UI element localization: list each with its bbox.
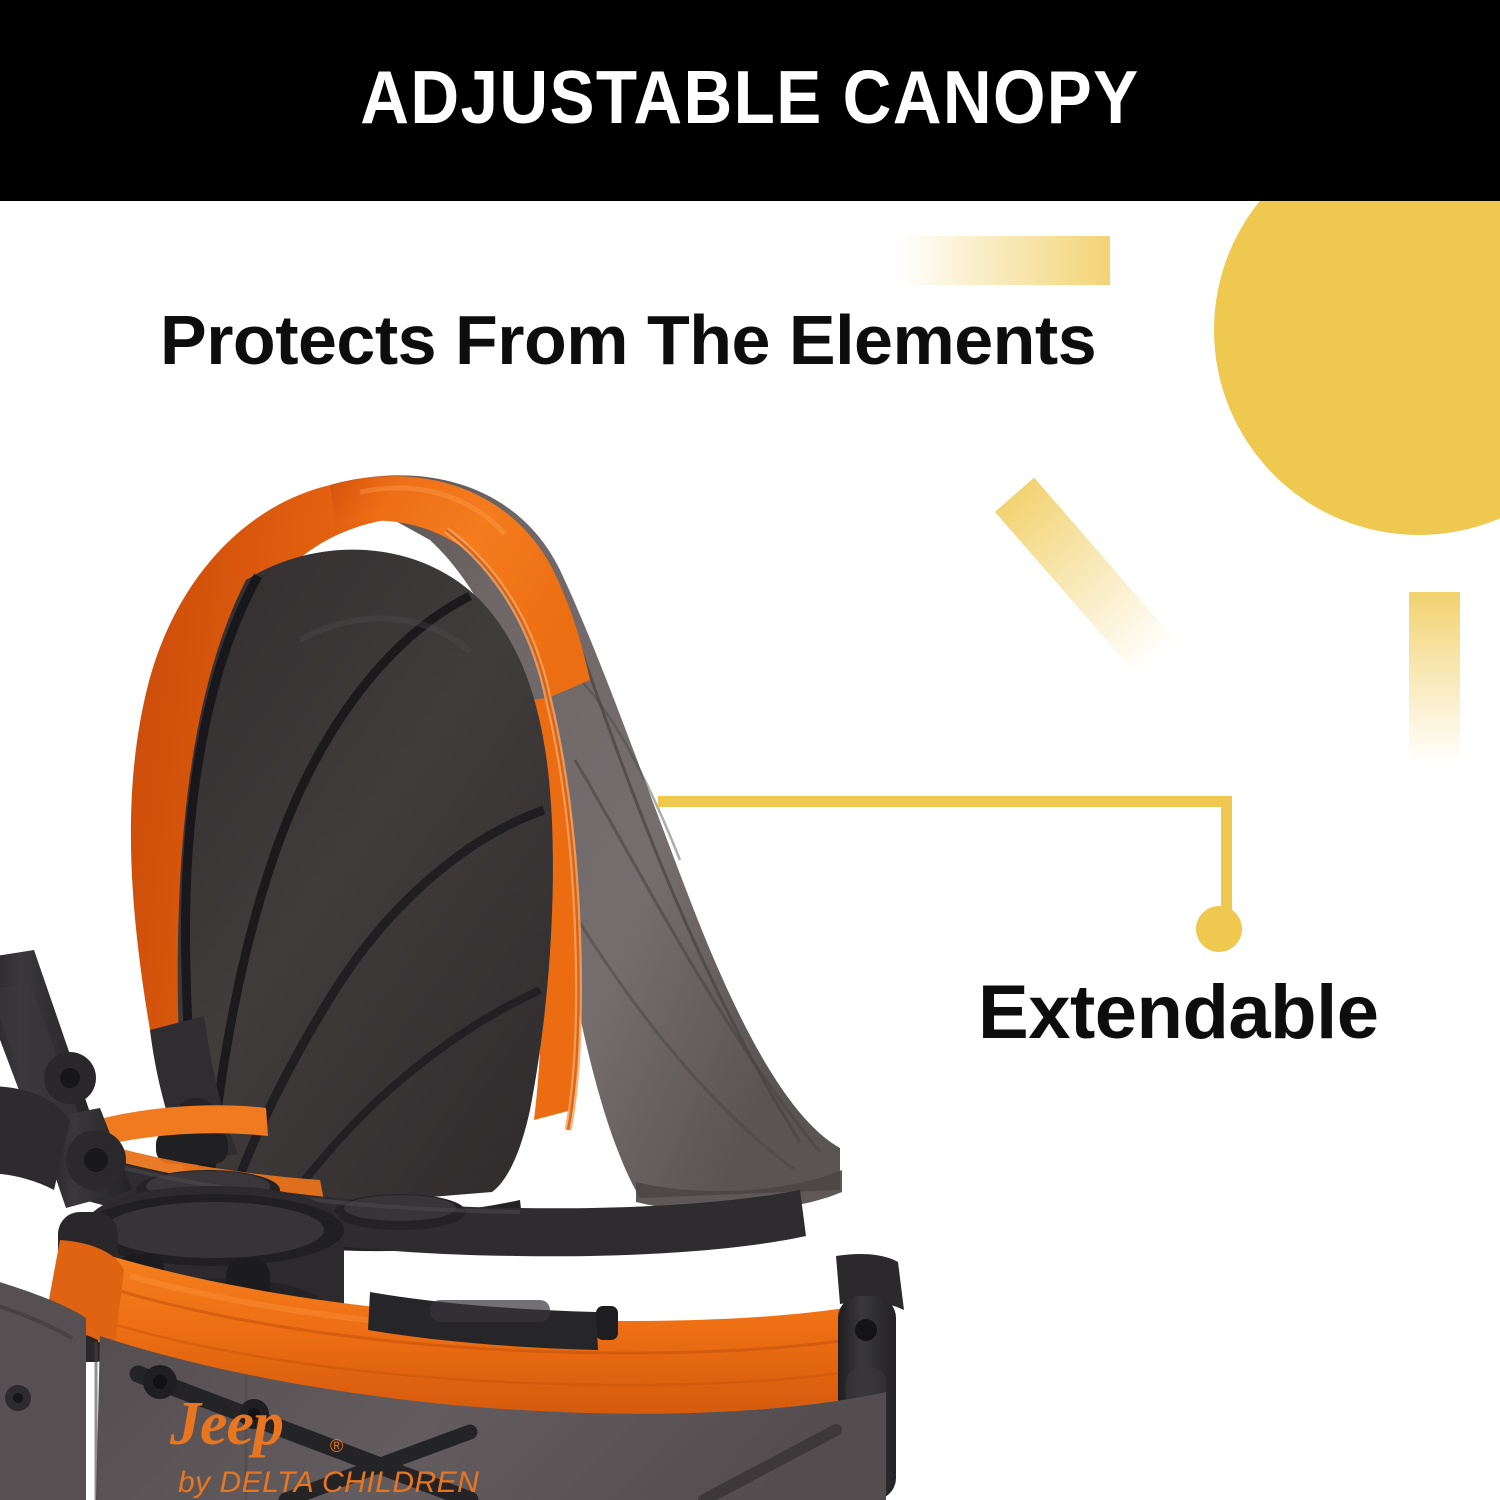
- push-handle: [0, 950, 132, 1208]
- product-photo: Jeep ® by DELTA CHILDREN: [0, 430, 960, 1500]
- svg-text:®: ®: [330, 1436, 343, 1456]
- callout-label: Extendable: [978, 975, 1378, 1051]
- decor-diagonal-bar: [995, 478, 1177, 677]
- decor-vertical-bar: [1409, 592, 1460, 764]
- svg-text:by DELTA CHILDREN: by DELTA CHILDREN: [178, 1466, 479, 1499]
- svg-text:Jeep: Jeep: [169, 1390, 283, 1458]
- callout-dot: [1196, 906, 1242, 952]
- product-feature-image: ADJUSTABLE CANOPY Protects From The Elem…: [0, 0, 1500, 1500]
- canopy-dark-interior: [178, 550, 553, 1266]
- header-banner: ADJUSTABLE CANOPY: [0, 0, 1500, 201]
- decor-horizontal-bar: [898, 236, 1110, 285]
- callout-line-horizontal: [658, 796, 1232, 807]
- headline-text: Protects From The Elements: [160, 305, 1370, 375]
- banner-title: ADJUSTABLE CANOPY: [360, 60, 1139, 141]
